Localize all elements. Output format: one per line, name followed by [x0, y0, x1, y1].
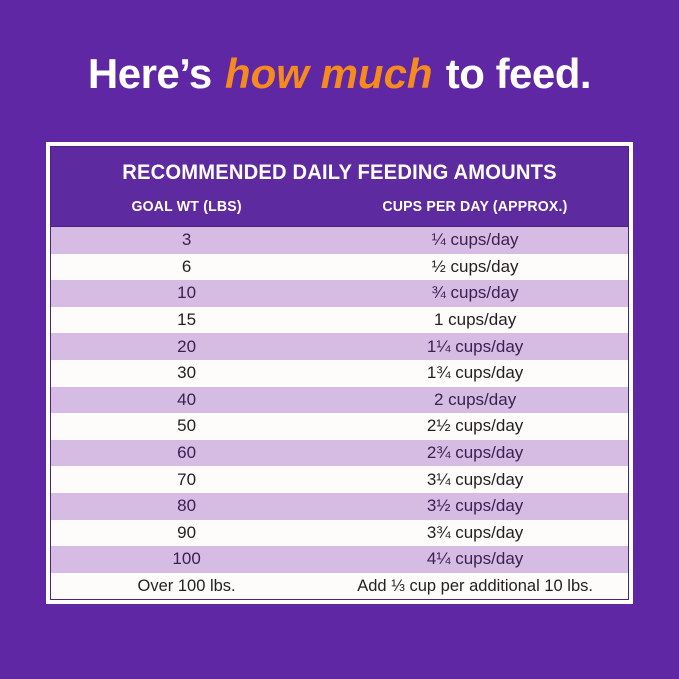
- table-column-headers: GOAL WT (LBS) CUPS PER DAY (APPROX.): [51, 197, 628, 217]
- page-title-part1: Here’s: [88, 50, 223, 97]
- cell-goal-weight: 70: [51, 469, 322, 491]
- cell-goal-weight: 10: [51, 282, 322, 304]
- cell-cups-per-day: 1 cups/day: [322, 309, 628, 331]
- cell-cups-per-day: Add ⅓ cup per additional 10 lbs.: [322, 575, 628, 597]
- cell-cups-per-day: 1¾ cups/day: [322, 362, 628, 384]
- cell-cups-per-day: 3½ cups/day: [322, 495, 628, 517]
- cell-goal-weight: 20: [51, 336, 322, 358]
- table-body: 3 ¼ cups/day 6 ½ cups/day 10 ¾ cups/day …: [50, 227, 629, 600]
- table-row: 50 2½ cups/day: [51, 413, 628, 440]
- cell-goal-weight: 90: [51, 522, 322, 544]
- feeding-table: RECOMMENDED DAILY FEEDING AMOUNTS GOAL W…: [47, 143, 632, 603]
- table-row: 70 3¼ cups/day: [51, 466, 628, 493]
- cell-goal-weight: 60: [51, 442, 322, 464]
- table-row: 3 ¼ cups/day: [51, 227, 628, 254]
- feeding-chart-page: Here’s how much to feed. RECOMMENDED DAI…: [0, 0, 679, 679]
- page-title-part2: to feed.: [435, 50, 592, 97]
- page-title: Here’s how much to feed.: [0, 48, 679, 100]
- cell-goal-weight: 80: [51, 495, 322, 517]
- cell-cups-per-day: 3¾ cups/day: [322, 522, 628, 544]
- cell-goal-weight: 3: [51, 229, 322, 251]
- cell-cups-per-day: 1¼ cups/day: [322, 336, 628, 358]
- cell-cups-per-day: 2¾ cups/day: [322, 442, 628, 464]
- cell-cups-per-day: 2 cups/day: [322, 389, 628, 411]
- cell-goal-weight: 100: [51, 548, 322, 570]
- cell-cups-per-day: ¼ cups/day: [322, 229, 628, 251]
- table-row: 100 4¼ cups/day: [51, 546, 628, 573]
- table-row: 80 3½ cups/day: [51, 493, 628, 520]
- cell-goal-weight: 6: [51, 256, 322, 278]
- column-header-goal-weight: GOAL WT (LBS): [59, 197, 314, 217]
- cell-cups-per-day: 3¼ cups/day: [322, 469, 628, 491]
- table-row: 60 2¾ cups/day: [51, 440, 628, 467]
- cell-goal-weight: 50: [51, 415, 322, 437]
- table-title: RECOMMENDED DAILY FEEDING AMOUNTS: [63, 160, 617, 186]
- cell-cups-per-day: 4¼ cups/day: [322, 548, 628, 570]
- cell-goal-weight: 15: [51, 309, 322, 331]
- column-header-cups-per-day: CUPS PER DAY (APPROX.): [331, 197, 618, 217]
- cell-cups-per-day: 2½ cups/day: [322, 415, 628, 437]
- table-row: 15 1 cups/day: [51, 307, 628, 334]
- cell-goal-weight: Over 100 lbs.: [51, 575, 322, 597]
- table-row: 90 3¾ cups/day: [51, 520, 628, 547]
- table-row: 10 ¾ cups/day: [51, 280, 628, 307]
- table-row: 30 1¾ cups/day: [51, 360, 628, 387]
- cell-goal-weight: 30: [51, 362, 322, 384]
- cell-cups-per-day: ½ cups/day: [322, 256, 628, 278]
- cell-cups-per-day: ¾ cups/day: [322, 282, 628, 304]
- cell-goal-weight: 40: [51, 389, 322, 411]
- table-row: 40 2 cups/day: [51, 387, 628, 414]
- table-header: RECOMMENDED DAILY FEEDING AMOUNTS GOAL W…: [50, 146, 629, 227]
- table-row: 20 1¼ cups/day: [51, 333, 628, 360]
- table-row: 6 ½ cups/day: [51, 254, 628, 281]
- table-row: Over 100 lbs. Add ⅓ cup per additional 1…: [51, 573, 628, 600]
- page-title-accent: how much: [223, 50, 435, 97]
